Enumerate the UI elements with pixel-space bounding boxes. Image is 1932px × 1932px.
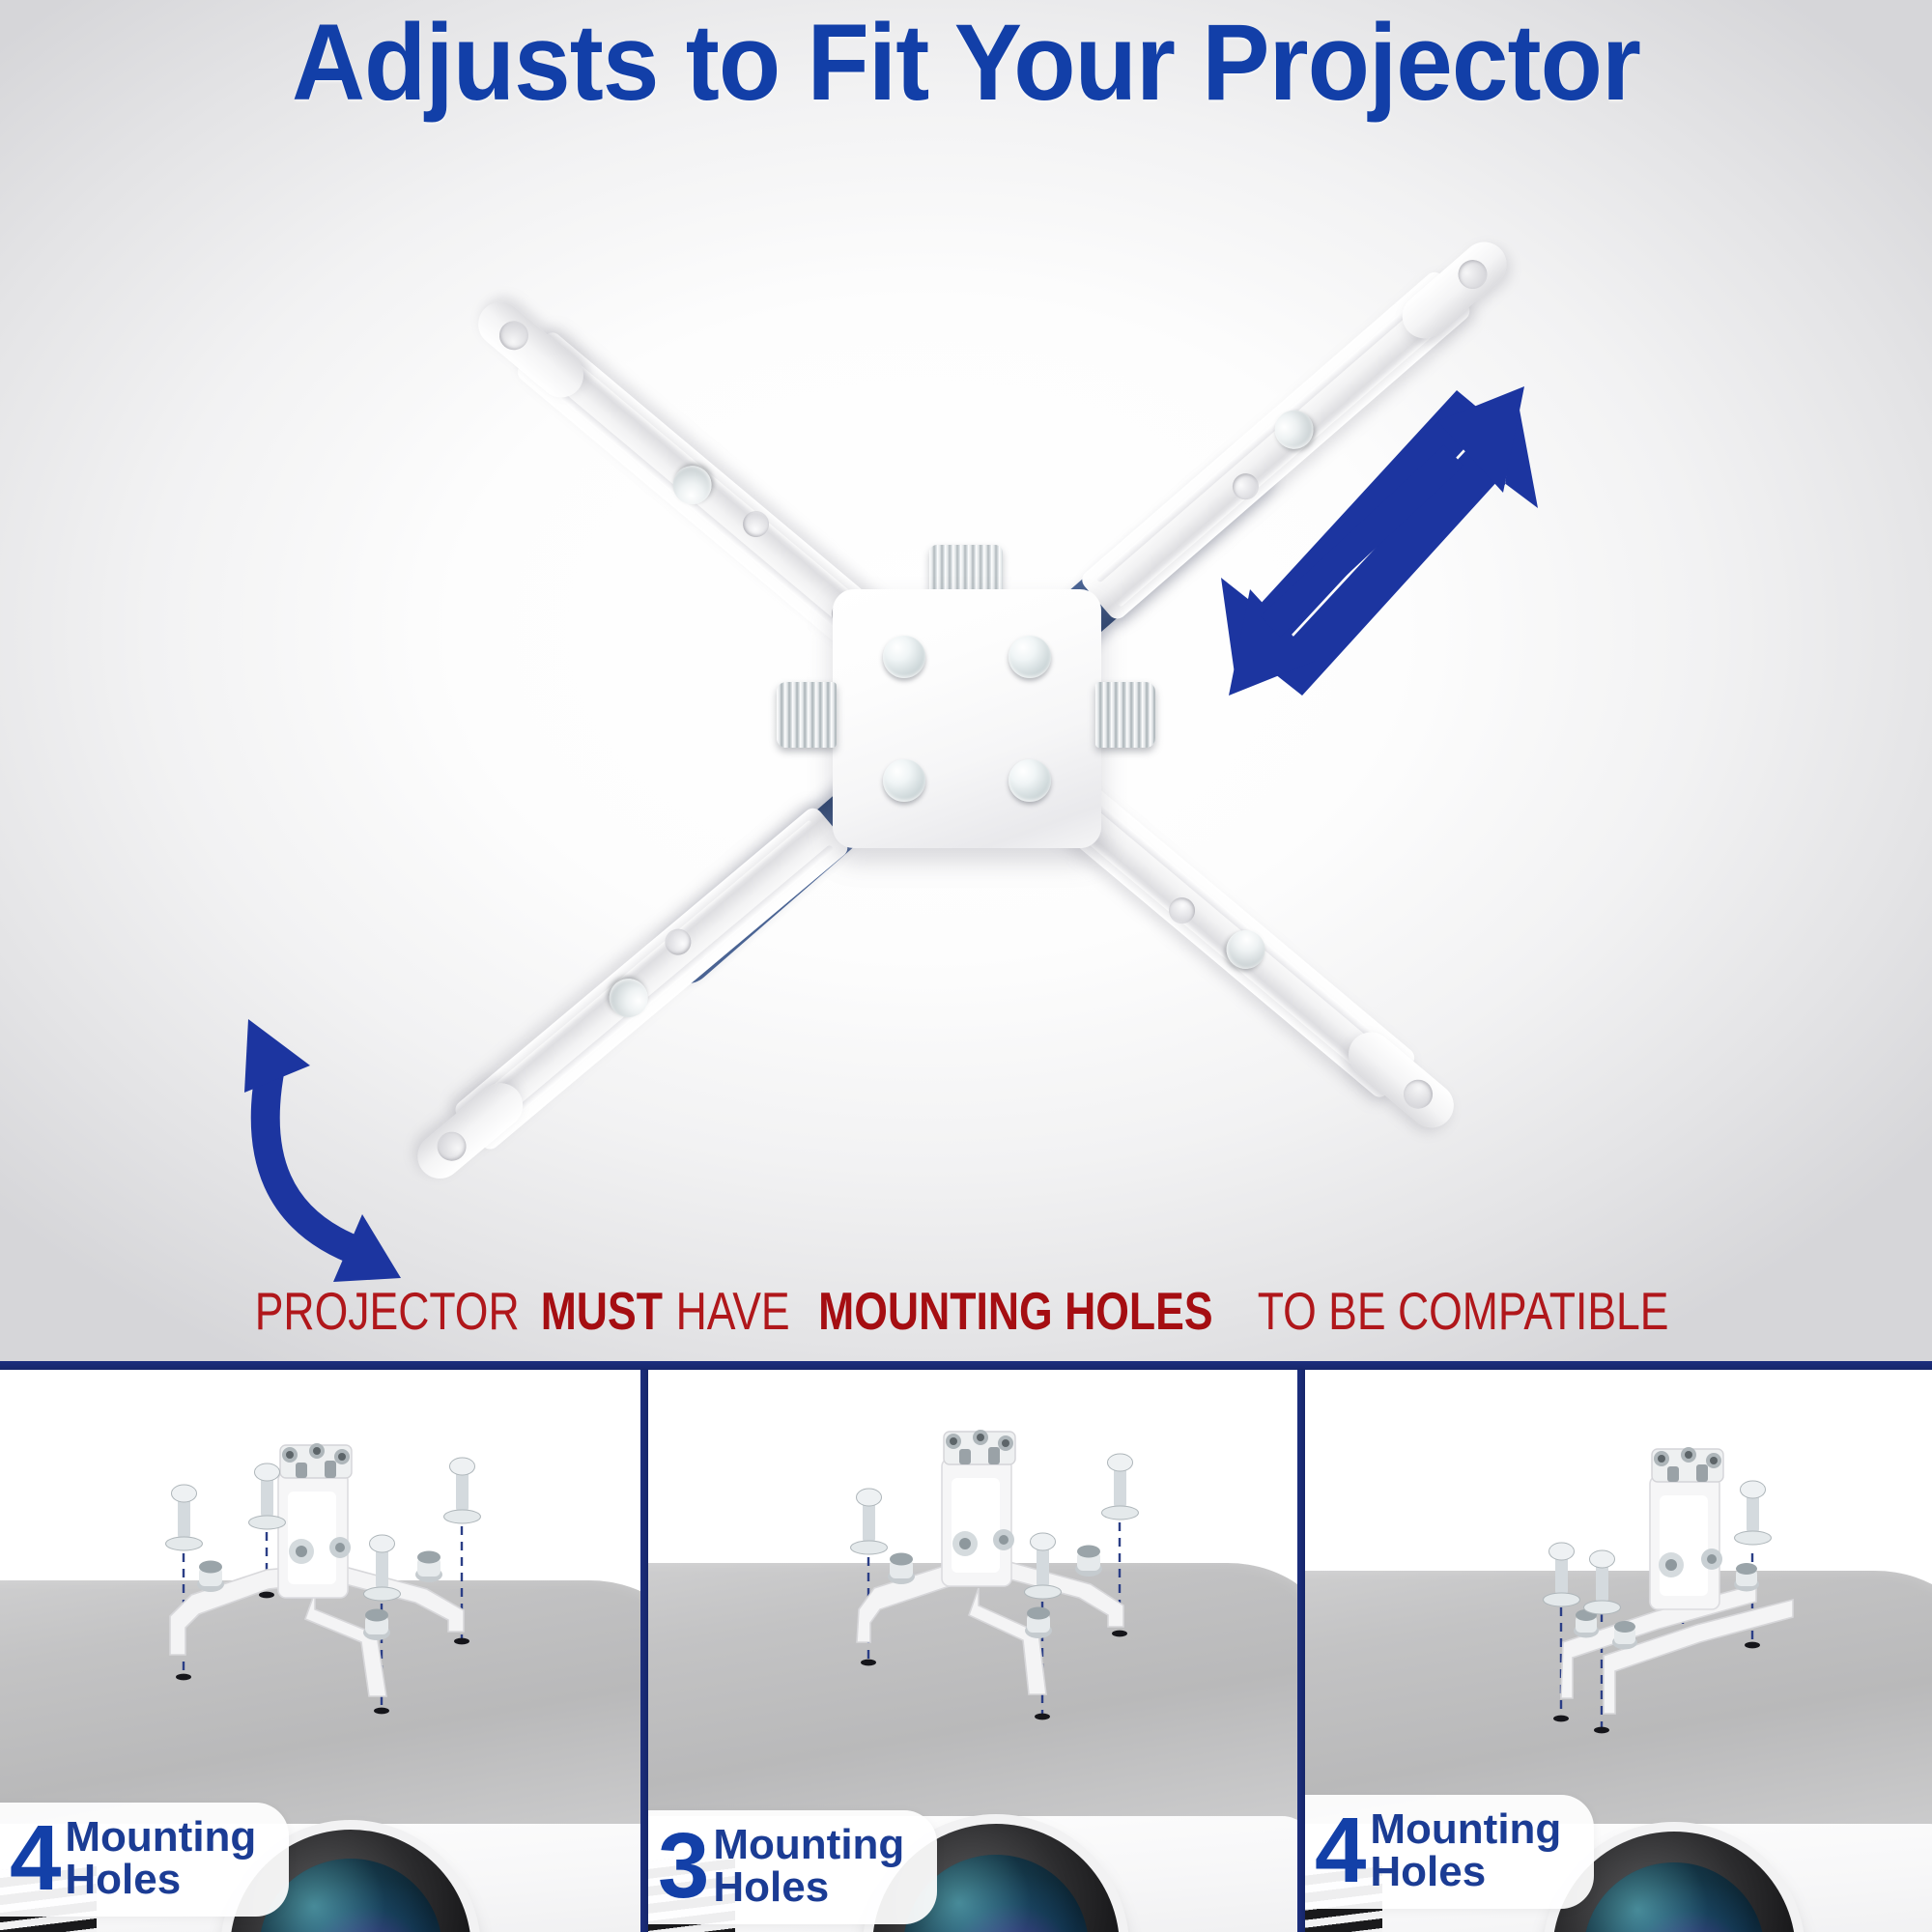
plate-bolt: [883, 636, 925, 678]
caption-part1: PROJECTOR: [255, 1282, 520, 1340]
divider-vertical-right: [1297, 1370, 1305, 1932]
mount-hardware-3-hole: [745, 1428, 1228, 1756]
panel-four-holes: 4 Mounting Holes: [0, 1370, 640, 1932]
badge-mounting-holes: 4 Mounting Holes: [1305, 1795, 1594, 1909]
mount-hardware-4-hole: [87, 1437, 570, 1756]
badge-number: 4: [10, 1817, 61, 1900]
badge-label-line2: Holes: [1370, 1851, 1561, 1893]
badge-label-line1: Mounting: [1370, 1805, 1561, 1853]
badge-mounting-holes: 3 Mounting Holes: [648, 1810, 937, 1924]
mounting-hole: [494, 315, 534, 355]
tilt-lock-knob-left[interactable]: [777, 682, 837, 748]
infographic-page: Adjusts to Fit Your Projector: [0, 0, 1932, 1932]
badge-label-line2: Holes: [65, 1859, 256, 1901]
badge-label: Mounting Holes: [1370, 1808, 1561, 1893]
mounting-hole: [1452, 254, 1492, 295]
badge-label-line1: Mounting: [713, 1821, 904, 1868]
caption-emphasis-must: MUST: [541, 1282, 663, 1340]
divider-horizontal: [0, 1361, 1932, 1370]
center-mounting-plate: [833, 589, 1101, 848]
plate-bolt: [1009, 759, 1051, 802]
panel-three-holes: 3 Mounting Holes: [648, 1370, 1297, 1932]
tilt-lock-knob-right[interactable]: [1095, 682, 1155, 748]
badge-label-line2: Holes: [713, 1866, 904, 1909]
extend-arrow-icon: [1198, 377, 1565, 705]
mount-hardware-4-hole-narrow: [1455, 1437, 1918, 1766]
swivel-arrow-icon: [217, 1009, 517, 1309]
plate-bolt: [1009, 636, 1051, 678]
compatibility-caption: PROJECTOR MUST HAVE MOUNTING HOLES TO BE…: [0, 1282, 1932, 1340]
page-title: Adjusts to Fit Your Projector: [58, 6, 1874, 120]
caption-part2: HAVE: [676, 1282, 790, 1340]
hero-section: Adjusts to Fit Your Projector: [0, 0, 1932, 1368]
badge-label: Mounting Holes: [713, 1824, 904, 1909]
badge-mounting-holes: 4 Mounting Holes: [0, 1803, 289, 1917]
plate-bolt: [883, 759, 925, 802]
panel-four-holes-narrow: 4 Mounting Holes: [1305, 1370, 1932, 1932]
badge-number: 3: [658, 1825, 709, 1908]
badge-number: 4: [1315, 1809, 1366, 1892]
divider-vertical-left: [640, 1370, 648, 1932]
caption-emphasis-holes: MOUNTING HOLES: [818, 1282, 1212, 1340]
badge-label-line1: Mounting: [65, 1813, 256, 1861]
badge-label: Mounting Holes: [65, 1816, 256, 1901]
caption-part3: TO BE COMPATIBLE: [1258, 1282, 1669, 1340]
mounting-hole: [1398, 1074, 1438, 1115]
